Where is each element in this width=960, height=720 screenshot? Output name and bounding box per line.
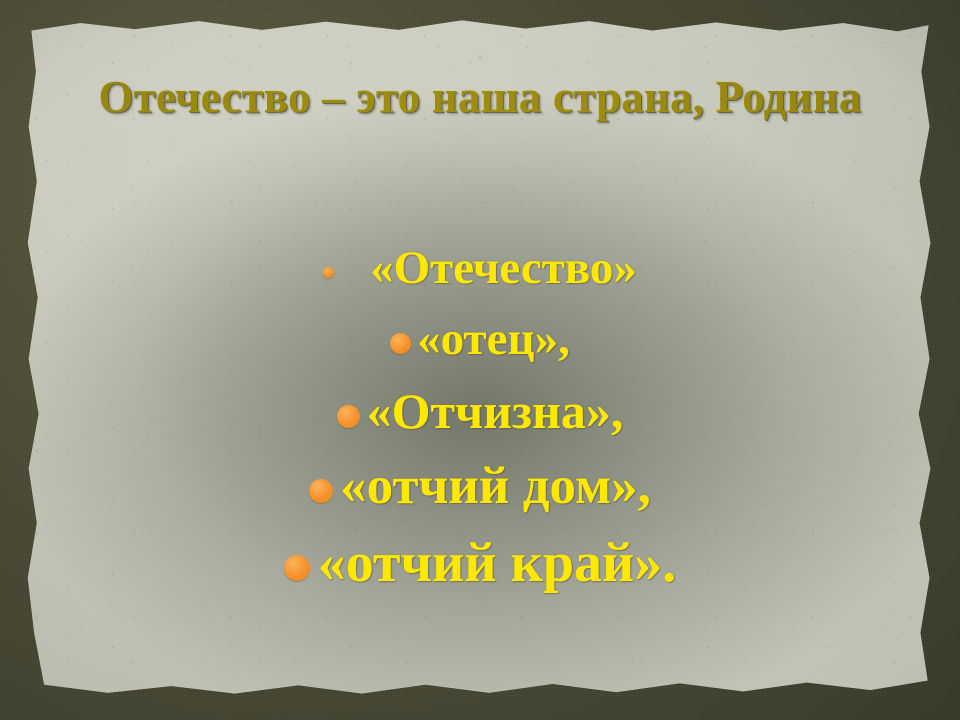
list-item: «отчий край». [0, 524, 960, 602]
bullet-marker-icon [284, 555, 310, 581]
bullet-marker-icon [309, 479, 333, 503]
slide-content: . Отечество – это наша страна, Родина «О… [0, 0, 960, 720]
top-period-mark: . [0, 46, 960, 54]
list-item: «Отчизна», [0, 374, 960, 448]
bullet-marker-icon [337, 405, 360, 428]
list-item-label: «отчий дом», [340, 457, 651, 515]
presentation-slide: . Отечество – это наша страна, Родина «О… [0, 0, 960, 720]
bullet-marker-icon [390, 333, 411, 354]
list-item-label: «отец», [417, 313, 570, 365]
bullet-list: «Отечество» «отец», «Отчизна», «отчий до… [0, 232, 960, 602]
list-item-label: «отчий край». [318, 532, 677, 594]
list-item-label: «Отчизна», [367, 383, 624, 439]
list-item: «отчий дом», [0, 448, 960, 524]
list-item: «отец», [0, 304, 960, 374]
list-item: «Отечество» [0, 232, 960, 304]
slide-title: Отечество – это наша страна, Родина [62, 70, 898, 125]
bullet-marker-icon [323, 267, 334, 278]
list-item-label: «Отечество» [370, 242, 637, 294]
